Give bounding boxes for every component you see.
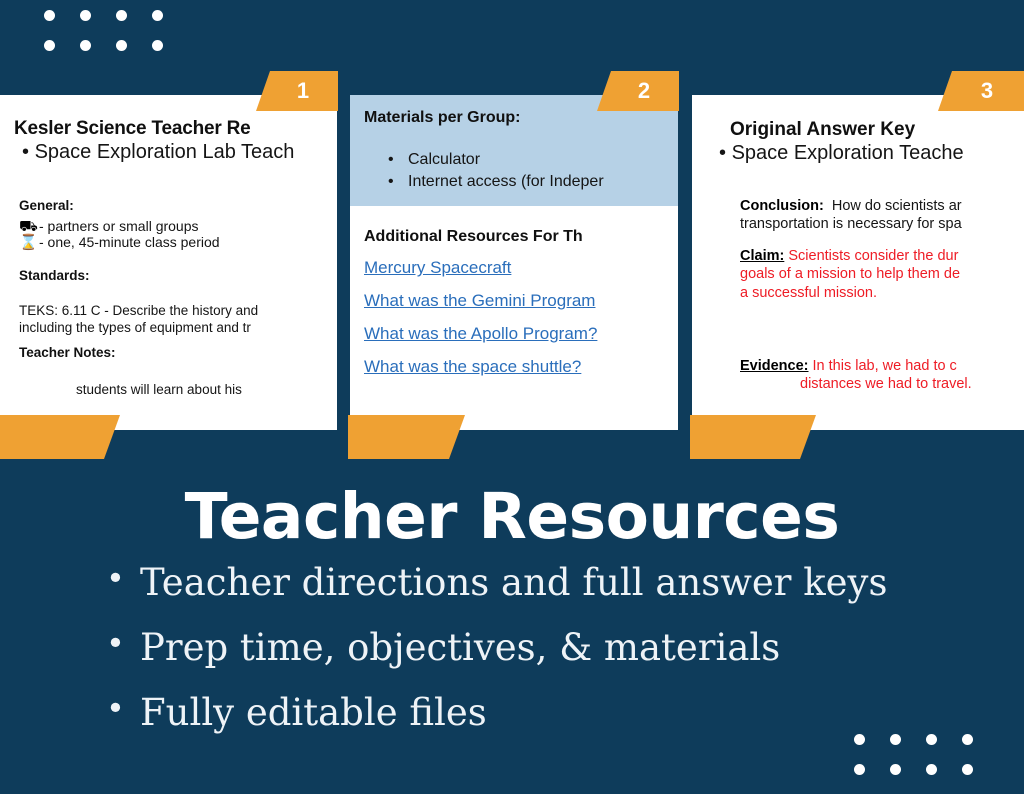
card-2-material-item: Internet access (for Indeper <box>398 171 678 193</box>
decorative-dot <box>890 734 901 745</box>
card-3-evidence-line: distances we had to travel. <box>800 375 972 393</box>
card-3-claim-label: Claim: <box>740 248 784 264</box>
preview-card-1-content: Kesler Science Teacher Re • Space Explor… <box>0 95 337 399</box>
card-3-subtitle: • Space Exploration Teache <box>719 142 1024 165</box>
card-2-resource-link[interactable]: What was the space shuttle? <box>364 357 678 377</box>
card-3-claim-line: goals of a mission to help them de <box>740 266 960 282</box>
card-3-evidence-label: Evidence: <box>740 358 809 374</box>
card-number-badge-3: 3 <box>938 71 1024 111</box>
decorative-dot <box>854 764 865 775</box>
dot-grid-bottom-right <box>854 734 998 794</box>
decorative-dot <box>890 764 901 775</box>
card-3-claim-line: Scientists consider the dur <box>788 248 958 264</box>
decorative-dot <box>926 734 937 745</box>
card-3-conclusion-line: transportation is necessary for spa <box>740 216 962 232</box>
preview-card-3-content: Original Answer Key • Space Exploration … <box>692 95 1024 394</box>
card-number-label: 2 <box>638 78 650 104</box>
card-1-general-item: ⛟ - partners or small groups <box>19 218 337 234</box>
card-3-conclusion-line: How do scientists ar <box>832 198 962 214</box>
card-2-material-item: Calculator <box>398 149 678 171</box>
decorative-dot <box>44 10 55 21</box>
feature-bullet-item: Fully editable files <box>100 694 1024 731</box>
decorative-dot <box>116 10 127 21</box>
card-1-notes-heading: Teacher Notes: <box>19 345 337 360</box>
card-number-label: 3 <box>981 78 993 104</box>
card-2-materials-heading: Materials per Group: <box>364 109 678 127</box>
feature-bullet-list: Teacher directions and full answer keys … <box>0 564 1024 731</box>
decorative-dot <box>926 764 937 775</box>
card-3-evidence-line: In this lab, we had to c <box>813 358 957 374</box>
card-3-title: Original Answer Key <box>730 119 1024 141</box>
card-number-badge-1: 1 <box>256 71 338 111</box>
card-1-general-item-label: - partners or small groups <box>39 218 199 234</box>
card-3-conclusion-label: Conclusion: <box>740 198 824 214</box>
decorative-dot <box>962 764 973 775</box>
feature-bullet-item: Teacher directions and full answer keys <box>100 564 1024 601</box>
decorative-dot <box>80 40 91 51</box>
card-1-subtitle: • Space Exploration Lab Teach <box>22 141 337 164</box>
preview-card-2[interactable]: Materials per Group: Calculator Internet… <box>350 95 678 430</box>
card-1-general-item: ⌛ - one, 45-minute class period <box>19 234 337 250</box>
feature-bullet-item: Prep time, objectives, & materials <box>100 629 1024 666</box>
card-ribbon-2 <box>348 415 465 459</box>
decorative-dot <box>962 734 973 745</box>
card-2-resource-link[interactable]: What was the Apollo Program? <box>364 324 678 344</box>
card-ribbon-3 <box>690 415 816 459</box>
preview-card-2-content: Materials per Group: Calculator Internet… <box>350 95 678 390</box>
decorative-dot <box>152 10 163 21</box>
dot-grid-top-left <box>44 10 188 70</box>
card-3-conclusion: Conclusion: How do scientists ar transpo… <box>740 197 1024 234</box>
preview-card-1[interactable]: Kesler Science Teacher Re • Space Explor… <box>0 95 337 430</box>
group-icon: ⛟ <box>19 219 36 234</box>
card-1-general-heading: General: <box>19 198 337 213</box>
card-1-standards-line: including the types of equipment and tr <box>19 320 337 337</box>
card-ribbon-1 <box>0 415 120 459</box>
card-number-label: 1 <box>297 78 309 104</box>
card-2-materials-panel: Materials per Group: Calculator Internet… <box>350 95 678 206</box>
decorative-dot <box>152 40 163 51</box>
decorative-dot <box>80 10 91 21</box>
card-1-general-item-label: - one, 45-minute class period <box>39 234 220 250</box>
preview-card-3[interactable]: Original Answer Key • Space Exploration … <box>692 95 1024 430</box>
decorative-dot <box>44 40 55 51</box>
card-1-notes-line: students will learn about his <box>76 382 337 399</box>
card-2-resource-link[interactable]: Mercury Spacecraft <box>364 258 678 278</box>
card-1-standards-heading: Standards: <box>19 268 337 283</box>
card-3-claim-line: a successful mission. <box>740 285 877 301</box>
card-3-evidence: Evidence: In this lab, we had to c dista… <box>740 357 1024 394</box>
card-2-resource-link[interactable]: What was the Gemini Program <box>364 291 678 311</box>
decorative-dot <box>854 734 865 745</box>
card-1-standards-line: TEKS: 6.11 C - Describe the history and <box>19 303 337 320</box>
card-number-badge-2: 2 <box>597 71 679 111</box>
page-title: Teacher Resources <box>0 484 1024 550</box>
hourglass-icon: ⌛ <box>19 235 36 250</box>
card-1-title: Kesler Science Teacher Re <box>14 118 337 140</box>
card-2-resources-heading: Additional Resources For Th <box>364 228 678 246</box>
card-3-claim: Claim: Scientists consider the dur goals… <box>740 247 1024 302</box>
decorative-dot <box>116 40 127 51</box>
